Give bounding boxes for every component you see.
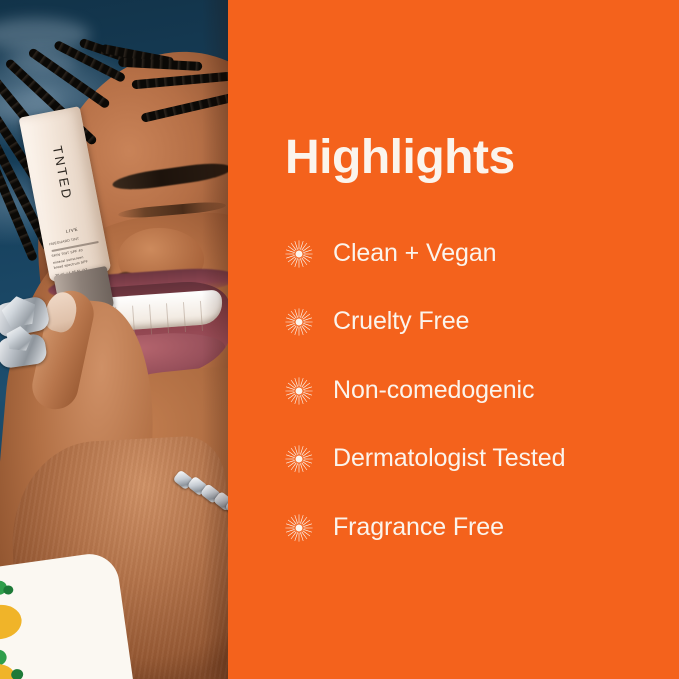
sunburst-icon — [285, 240, 313, 268]
braid-strand — [118, 58, 202, 71]
highlight-item: Fragrance Free — [285, 493, 665, 562]
tooth-separator — [166, 303, 169, 333]
tube-brand-text: TNTED — [44, 128, 79, 220]
tooth-separator — [149, 304, 152, 334]
highlight-label: Fragrance Free — [333, 514, 504, 542]
sunburst-icon — [285, 308, 313, 336]
braid-strand — [132, 72, 228, 90]
highlight-label: Cruelty Free — [333, 308, 469, 336]
product-lifestyle-photo: /*braids generated below*/ TNTED LIVE HU… — [0, 0, 228, 679]
highlight-label: Clean + Vegan — [333, 240, 496, 268]
tooth-separator — [200, 301, 203, 331]
highlights-list: Clean + VeganCruelty FreeNon-comedogenic… — [285, 219, 665, 562]
braid-strand — [140, 87, 228, 123]
patterned-shirt — [0, 550, 136, 679]
sunburst-icon — [285, 445, 313, 473]
sunburst-icon — [285, 514, 313, 542]
highlights-panel: Highlights Clean + VeganCruelty FreeNon-… — [228, 0, 679, 679]
highlight-item: Non-comedogenic — [285, 356, 665, 425]
sunburst-icon — [285, 377, 313, 405]
page-title: Highlights — [285, 133, 665, 183]
tooth-separator — [183, 302, 186, 332]
highlight-label: Non-comedogenic — [333, 377, 534, 405]
highlight-item: Cruelty Free — [285, 288, 665, 357]
highlights-content: Highlights Clean + VeganCruelty FreeNon-… — [285, 133, 665, 562]
highlight-item: Clean + Vegan — [285, 219, 665, 288]
marketing-graphic: /*braids generated below*/ TNTED LIVE HU… — [0, 0, 679, 679]
highlight-item: Dermatologist Tested — [285, 425, 665, 494]
highlight-label: Dermatologist Tested — [333, 445, 565, 473]
